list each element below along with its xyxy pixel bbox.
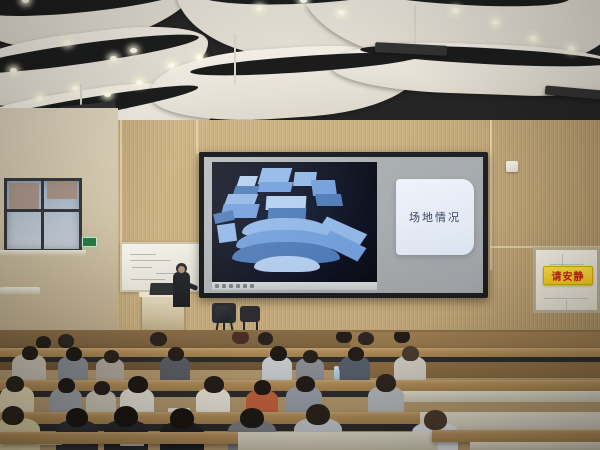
desk-row xyxy=(0,432,250,444)
audience-head xyxy=(424,410,447,430)
hanger-rod xyxy=(414,6,416,46)
model-block xyxy=(257,182,294,192)
whiteboard-writing xyxy=(132,267,152,268)
audience-head xyxy=(258,332,273,345)
audience-seating xyxy=(0,332,600,450)
window xyxy=(4,178,82,252)
ceiling-downlight-icon xyxy=(10,68,17,73)
projection-screen[interactable]: 场地情况 xyxy=(204,157,483,293)
audience-head xyxy=(306,404,330,425)
audience-head xyxy=(6,376,24,392)
presenter-face xyxy=(178,266,185,273)
window-mullion xyxy=(41,181,44,249)
ceiling-downlight-icon xyxy=(72,86,79,91)
ceiling-downlight-icon xyxy=(196,55,203,60)
audience-head xyxy=(104,350,119,363)
quiet-sign-text: 请安静 xyxy=(552,268,585,283)
audience-head xyxy=(150,332,167,346)
ceiling-downlight-icon xyxy=(104,92,111,97)
audience-head xyxy=(240,408,264,428)
exit-sign-icon xyxy=(82,237,97,247)
notice-board-line xyxy=(566,300,567,310)
audience-head xyxy=(58,334,74,348)
ceiling-downlight-icon xyxy=(110,56,117,61)
taskbar-app-icon[interactable] xyxy=(215,284,219,288)
water-bottle xyxy=(334,366,339,380)
audience-head xyxy=(348,347,364,361)
taskbar-app-icon[interactable] xyxy=(250,284,254,288)
model-tier xyxy=(254,256,320,272)
audience-head xyxy=(270,346,287,361)
notice-board-line xyxy=(544,298,588,299)
chair xyxy=(240,306,260,322)
audience-head xyxy=(114,406,138,427)
desk-front-panel xyxy=(390,391,600,402)
desk-front-panel xyxy=(238,432,438,450)
ceiling-downlight-icon xyxy=(168,63,175,68)
quiet-sign: 请安静 xyxy=(543,266,593,285)
ceiling-downlight-icon xyxy=(136,80,143,85)
lecture-hall-photo: 请安静 xyxy=(0,0,600,450)
window-view-building xyxy=(47,181,77,199)
audience-head xyxy=(232,332,249,344)
ceiling-downlight-icon xyxy=(256,6,263,11)
taskbar-app-icon[interactable] xyxy=(229,284,233,288)
taskbar-app-icon[interactable] xyxy=(236,284,240,288)
slide-model-panel xyxy=(212,162,377,282)
laptop xyxy=(149,283,174,295)
wall-seam xyxy=(196,120,198,154)
presenter xyxy=(173,272,190,307)
audience-head xyxy=(58,378,75,393)
ceiling-downlight-icon xyxy=(64,40,71,45)
desk-row xyxy=(0,348,600,357)
ceiling-downlight-icon xyxy=(338,10,345,15)
desk-front-panel xyxy=(470,442,600,450)
audience-head xyxy=(66,347,82,361)
audience-head xyxy=(336,332,352,343)
audience-head xyxy=(204,376,224,393)
whiteboard-writing xyxy=(130,260,170,261)
model-wing xyxy=(217,223,237,243)
audience-head xyxy=(2,406,24,425)
wall-seam xyxy=(120,120,122,250)
audience-head xyxy=(168,347,184,361)
wall-switch[interactable] xyxy=(506,161,518,172)
audience-head xyxy=(128,376,148,393)
backpack xyxy=(215,306,231,322)
taskbar-app-icon[interactable] xyxy=(222,284,226,288)
ceiling-downlight-icon xyxy=(530,36,537,41)
audience-head xyxy=(94,381,110,395)
audience-head xyxy=(66,408,88,427)
ceiling-downlight-icon xyxy=(568,46,575,51)
slide-callout-box: 场地情况 xyxy=(396,179,474,255)
window-sill xyxy=(0,250,86,256)
audience-head xyxy=(376,374,396,392)
audience-head xyxy=(22,346,38,360)
audience-head xyxy=(394,332,410,343)
audience-head xyxy=(402,346,419,361)
taskbar-app-icon[interactable] xyxy=(243,284,247,288)
ceiling-downlight-icon xyxy=(492,20,499,25)
ceiling-downlight-icon xyxy=(36,96,43,101)
notice-board-line xyxy=(550,264,584,265)
model-block xyxy=(315,194,343,206)
window-mullion xyxy=(7,209,79,212)
slide-title-text: 场地情况 xyxy=(409,209,461,225)
audience-head xyxy=(358,332,374,345)
desk-row xyxy=(432,430,600,442)
audience-head xyxy=(303,350,318,363)
radiator xyxy=(0,287,40,294)
wall-seam xyxy=(490,120,492,270)
whiteboard-writing xyxy=(131,279,165,280)
hanger-rod xyxy=(234,34,236,84)
audience-head xyxy=(170,408,194,429)
slide-taskbar[interactable] xyxy=(212,282,377,290)
ceiling-downlight-icon xyxy=(452,8,459,13)
whiteboard-writing xyxy=(130,254,156,255)
model-wing xyxy=(213,210,235,224)
ceiling-downlight-icon xyxy=(130,48,137,53)
audience-head xyxy=(296,376,315,392)
window-view-building xyxy=(9,183,39,209)
audience-head xyxy=(254,380,271,395)
